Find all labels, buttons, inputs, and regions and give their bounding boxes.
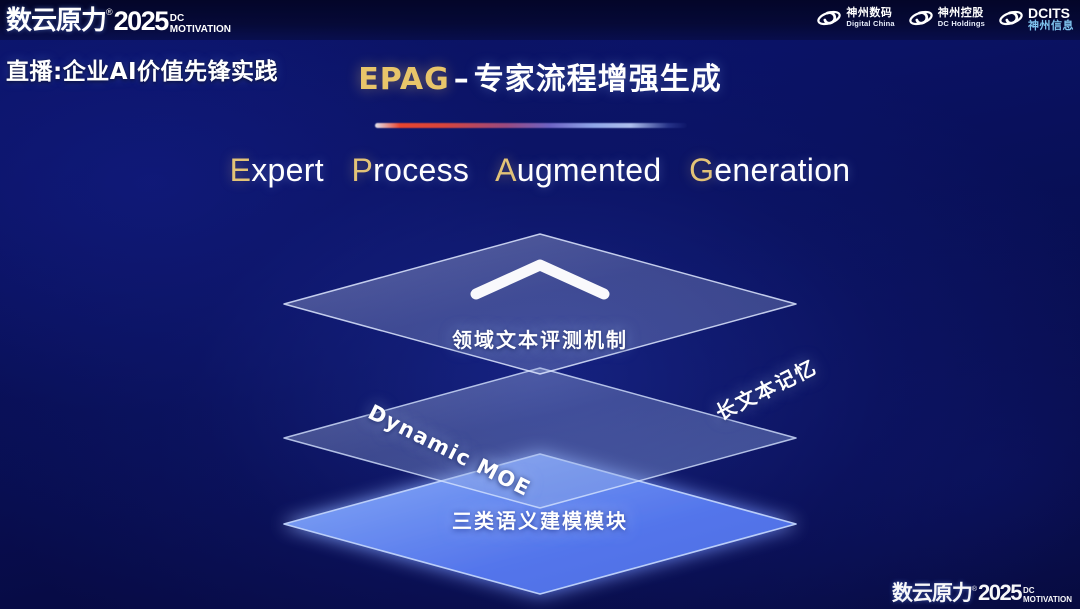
partner-logo-text: 神州数码 Digital China — [846, 7, 894, 28]
subtitle-space — [333, 152, 342, 188]
title-acronym: EPAG — [358, 62, 450, 97]
subtitle-rest: xpert — [251, 152, 324, 188]
partner-logo-text: DCITS 神州信息 — [1028, 4, 1074, 31]
subtitle-rest: eneration — [714, 152, 850, 188]
partner-logo-dc-holdings: 神州控股 DC Holdings — [908, 5, 985, 31]
partner-name-cn: 神州数码 — [846, 7, 894, 18]
layer-bottom-label: 三类语义建模模块 — [255, 505, 825, 534]
brand-dc-line2: MOTIVATION — [170, 24, 231, 35]
subtitle-capital: P — [352, 152, 374, 188]
partner-logo-group: 神州数码 Digital China 神州控股 DC Holdings — [816, 4, 1074, 31]
registered-mark: ® — [106, 2, 113, 18]
brand-logo: 数云原力 ® 2025 DC MOTIVATION — [6, 2, 231, 36]
watermark-dc-motivation: DC MOTIVATION — [1023, 587, 1072, 605]
subtitle-rest: rocess — [373, 152, 469, 188]
layered-architecture-diagram: 领域文本评测机制 Dynamic MOE 长文本记忆 三类语义建模模块 — [255, 222, 825, 592]
brand-watermark: 数云原力 ® 2025 DC MOTIVATION — [892, 581, 1072, 605]
title-dash: – — [450, 62, 474, 97]
partner-name-en: DCITS — [1028, 6, 1074, 20]
partner-logo-dcits: DCITS 神州信息 — [998, 4, 1074, 31]
subtitle-word-generation: Generation — [689, 152, 850, 188]
subtitle-rest: ugmented — [517, 152, 662, 188]
watermark-dc-line1: DC — [1023, 587, 1072, 595]
partner-name-en: DC Holdings — [938, 20, 985, 28]
subtitle-space — [478, 152, 487, 188]
brand-dc-line1: DC — [170, 14, 231, 24]
partner-name-cn: 神州信息 — [1028, 20, 1074, 31]
slide-canvas: 数云原力 ® 2025 DC MOTIVATION 直播:企业AI价值先锋实践 … — [0, 0, 1080, 609]
swirl-icon — [816, 5, 842, 31]
subtitle-word-augmented: Augmented — [495, 152, 661, 188]
partner-name-en: Digital China — [846, 20, 894, 28]
gradient-divider — [375, 123, 687, 128]
brand-dc-motivation: DC MOTIVATION — [170, 14, 231, 36]
brand-year: 2025 — [114, 6, 168, 36]
partner-logo-digital-china: 神州数码 Digital China — [816, 5, 894, 31]
partner-logo-text: 神州控股 DC Holdings — [938, 7, 985, 28]
live-stream-title: 直播:企业AI价值先锋实践 — [6, 52, 278, 86]
title-chinese: 专家流程增强生成 — [474, 62, 722, 97]
layer-top-label: 领域文本评测机制 — [255, 324, 825, 353]
partner-name-cn: 神州控股 — [938, 7, 985, 18]
swirl-icon — [908, 5, 934, 31]
page-subtitle: Expert Process Augmented Generation — [0, 152, 1080, 189]
watermark-name-cn: 数云原力 — [892, 581, 972, 605]
subtitle-word-process: Process — [352, 152, 470, 188]
subtitle-capital: E — [230, 152, 252, 188]
swirl-icon — [998, 5, 1024, 31]
watermark-registered-mark: ® — [972, 581, 977, 596]
subtitle-capital: A — [495, 152, 517, 188]
subtitle-capital: G — [689, 152, 714, 188]
subtitle-space — [671, 152, 680, 188]
watermark-dc-line2: MOTIVATION — [1023, 595, 1072, 604]
watermark-year: 2025 — [978, 581, 1021, 605]
subtitle-word-expert: Expert — [230, 152, 324, 188]
brand-name-cn: 数云原力 — [6, 6, 106, 36]
